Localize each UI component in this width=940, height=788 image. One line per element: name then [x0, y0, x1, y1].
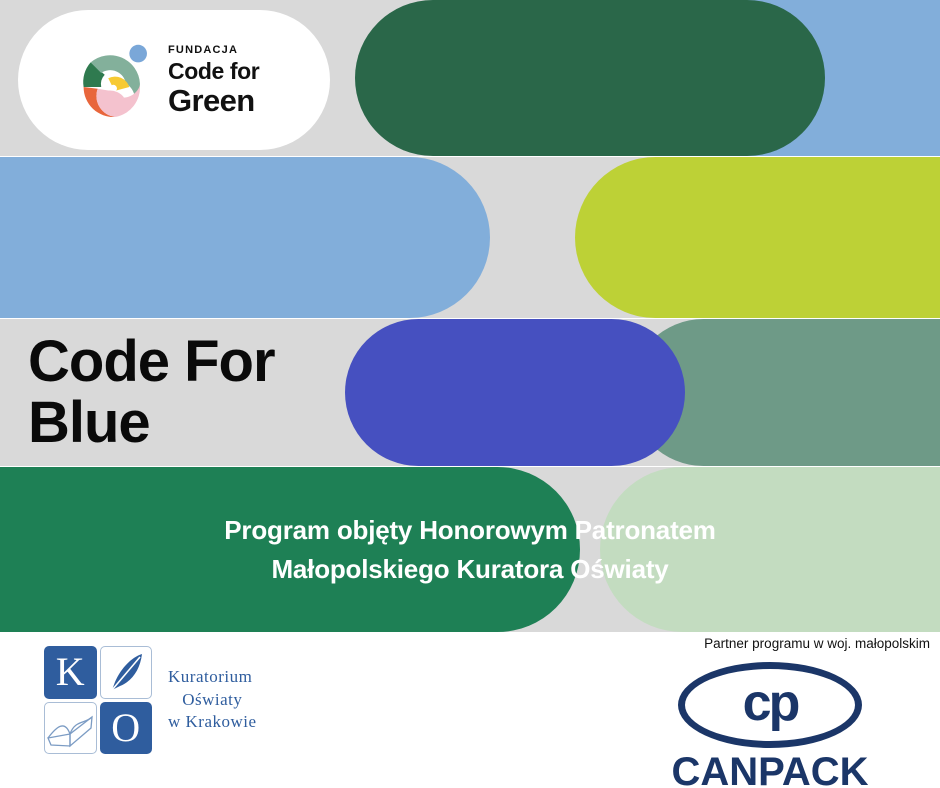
brand-line-1: Code for — [168, 60, 259, 83]
brand-logo-text: FUNDACJA Code for Green — [168, 45, 259, 116]
poster-footer: K O — [0, 632, 940, 788]
decor-pill-light-blue-row2 — [0, 157, 490, 318]
open-book-icon — [45, 708, 95, 748]
patronage-text: Program objęty Honorowym Patronatem Mało… — [0, 467, 940, 632]
decor-band-row-4: Program objęty Honorowym Patronatem Mało… — [0, 467, 940, 632]
kuratorium-line-1: Kuratorium — [168, 666, 257, 689]
kuratorium-tile-quill — [100, 646, 153, 699]
canpack-wordmark: CANPACK — [660, 752, 880, 788]
quill-icon — [102, 648, 150, 696]
kuratorium-line-3: w Krakowie — [168, 711, 257, 734]
brand-logo-card: FUNDACJA Code for Green — [18, 10, 330, 150]
patronage-line-2: Małopolskiego Kuratora Oświaty — [271, 550, 668, 589]
decor-pill-yellow-green-row2 — [575, 157, 940, 318]
patronage-line-1: Program objęty Honorowym Patronatem — [224, 511, 715, 550]
partner-note: Partner programu w woj. małopolskim — [704, 636, 930, 651]
kuratorium-logo: K O — [44, 646, 257, 754]
poster-headline: Code For Blue — [28, 331, 275, 454]
kuratorium-tile-o: O — [100, 702, 153, 755]
brand-eyebrow: FUNDACJA — [168, 45, 259, 56]
kuratorium-line-2: Oświaty — [168, 689, 257, 712]
canpack-oval-icon: cp — [678, 662, 862, 748]
decor-band-row-1: FUNDACJA Code for Green — [0, 0, 940, 156]
kuratorium-letter-o: O — [111, 708, 140, 748]
kuratorium-wordmark: Kuratorium Oświaty w Krakowie — [168, 666, 257, 735]
kuratorium-letter-k: K — [56, 652, 85, 692]
kuratorium-logo-grid: K O — [44, 646, 152, 754]
decor-band-row-2 — [0, 157, 940, 318]
code-for-green-swirl-icon — [66, 36, 154, 124]
kuratorium-tile-k: K — [44, 646, 97, 699]
decor-pill-indigo-row3 — [345, 319, 685, 466]
poster-canvas: FUNDACJA Code for Green Code For Blue Pr… — [0, 0, 940, 788]
canpack-monogram: cp — [743, 677, 798, 729]
canpack-logo: cp CANPACK — [660, 662, 880, 788]
kuratorium-tile-book — [44, 702, 97, 755]
brand-line-2: Green — [168, 85, 259, 116]
decor-band-row-3: Code For Blue — [0, 319, 940, 466]
decor-pill-dark-green-row1 — [355, 0, 825, 156]
